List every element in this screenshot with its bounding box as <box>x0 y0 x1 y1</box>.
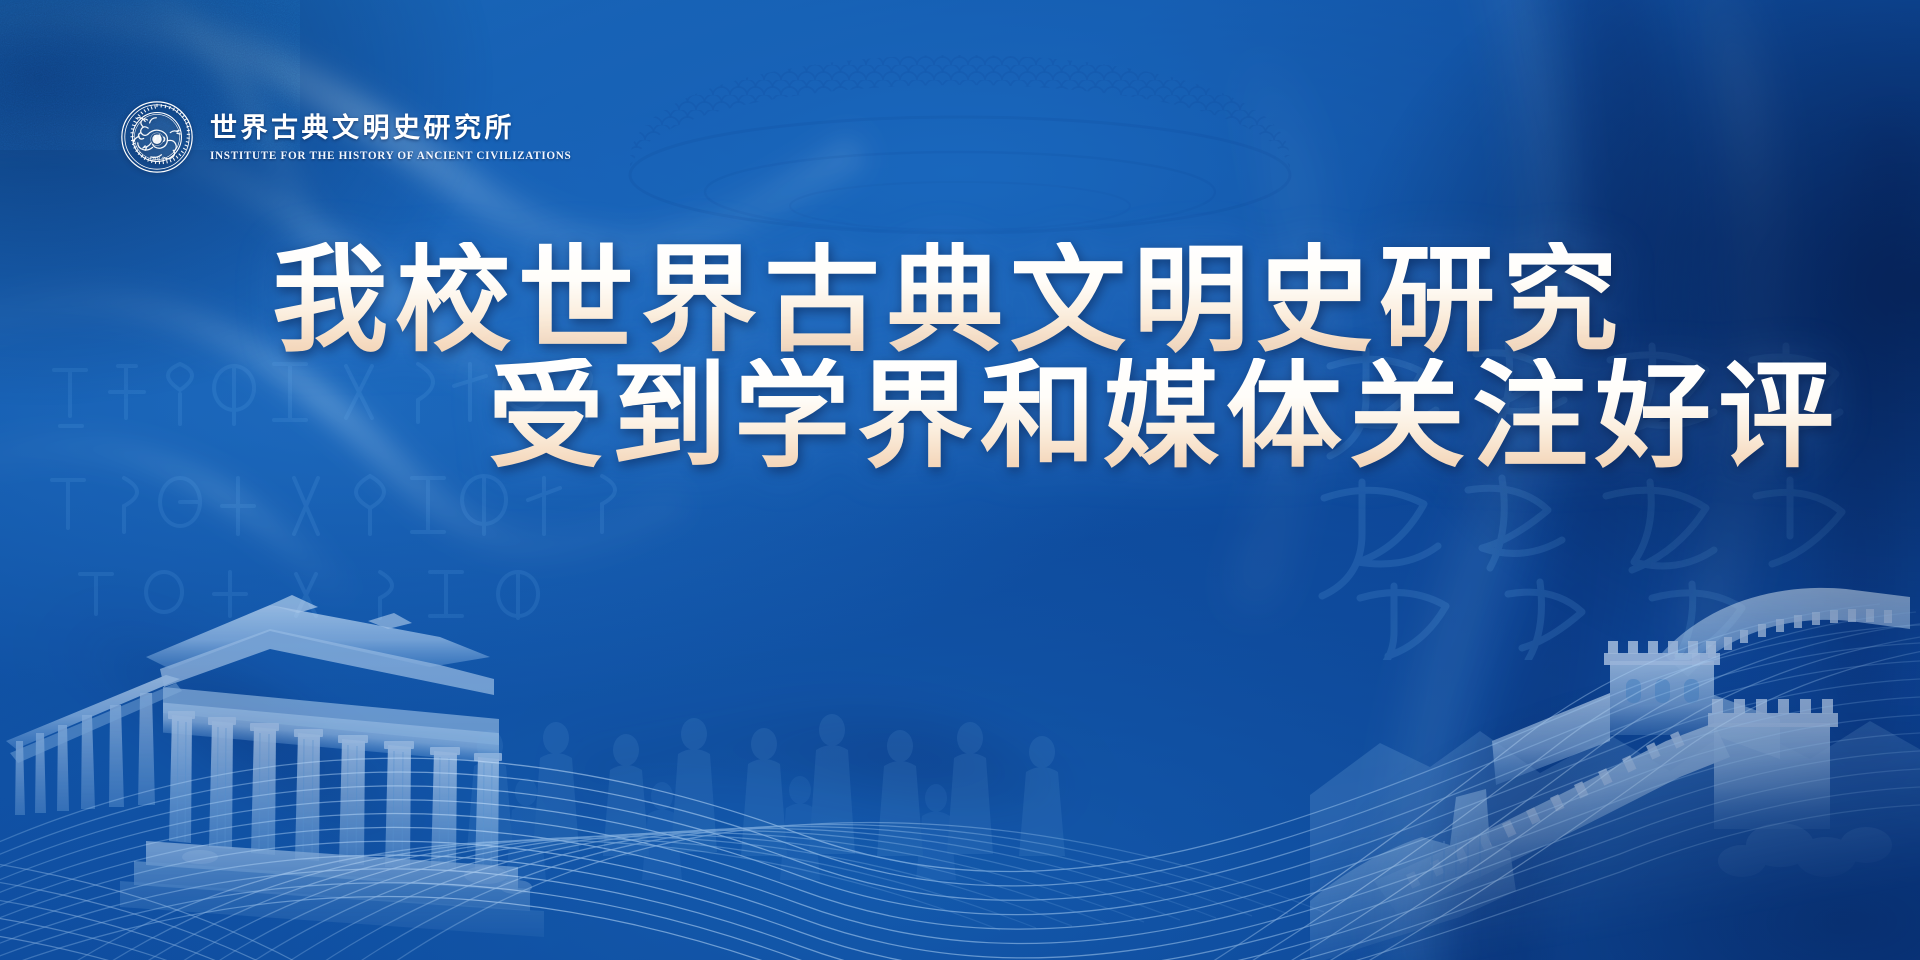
parthenon-temple-illustration <box>0 545 590 960</box>
flowing-line-mesh-pattern <box>0 600 1920 960</box>
chinese-calligraphy-watermark <box>1300 330 1920 660</box>
news-hero-banner: 1984 世界古典文明史研究所 INSTITUTE FOR THE HISTOR… <box>0 0 1920 960</box>
headline-line-2: 受到学界和媒体关注好评 <box>488 358 1841 474</box>
ancient-cuneiform-script-watermark <box>40 330 660 630</box>
logo-wordmark: 世界古典文明史研究所 INSTITUTE FOR THE HISTORY OF … <box>210 112 571 162</box>
headline-line-1: 我校世界古典文明史研究 <box>272 242 1625 358</box>
logo-name-chinese: 世界古典文明史研究所 <box>210 114 571 143</box>
iac-dragon-seal-emblem-icon: 1984 <box>120 100 194 174</box>
institute-logo-lockup[interactable]: 1984 世界古典文明史研究所 INSTITUTE FOR THE HISTOR… <box>120 100 571 174</box>
logo-name-english: INSTITUTE FOR THE HISTORY OF ANCIENT CIV… <box>210 150 571 162</box>
logo-year-text: 1984 <box>149 156 165 162</box>
great-wall-of-china-illustration <box>1310 545 1920 960</box>
terracotta-army-watermark <box>430 700 1130 960</box>
ancient-amphitheatre-dome-watermark <box>560 0 1360 380</box>
